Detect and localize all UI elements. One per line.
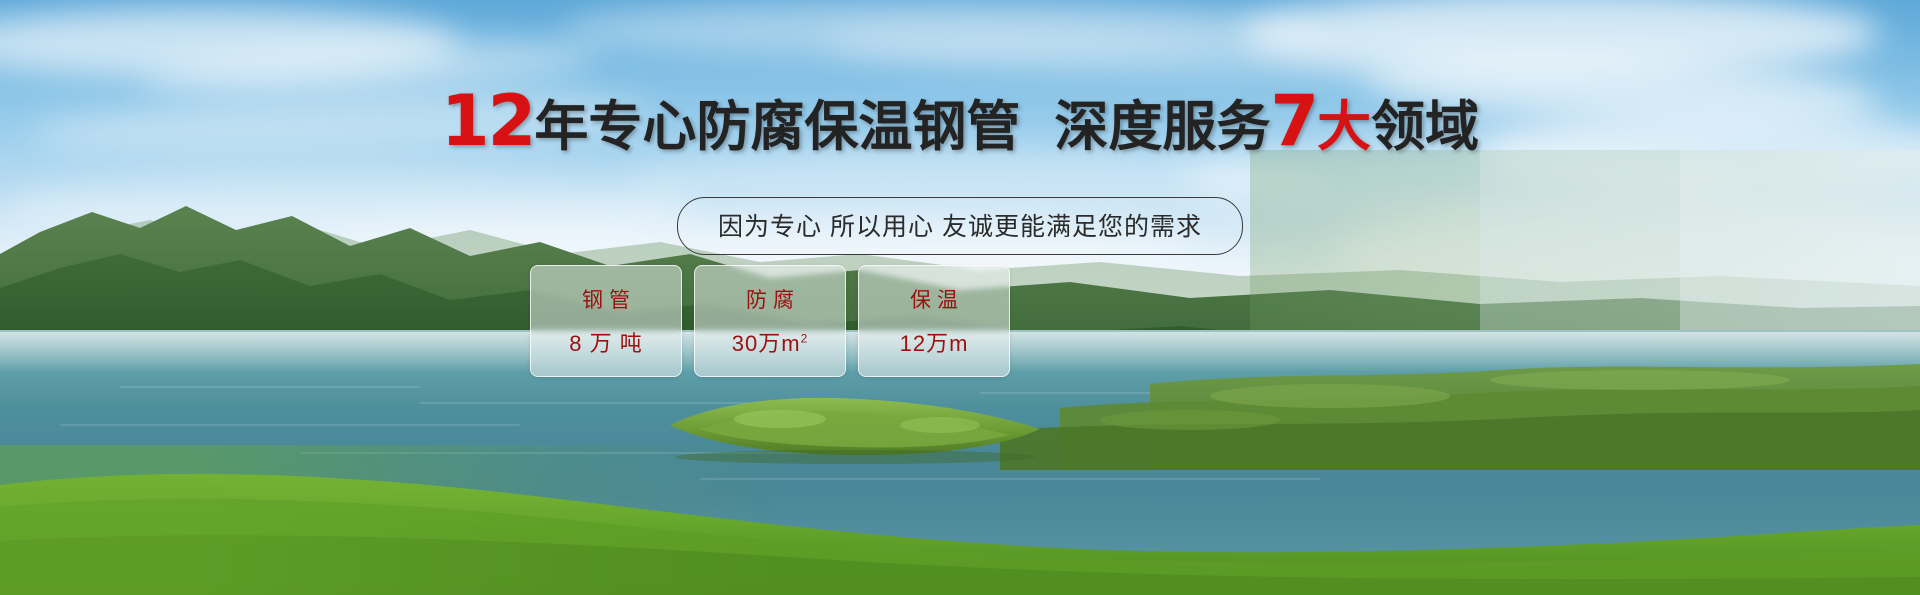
stat-card-insulation[interactable]: 保温 12万m xyxy=(858,265,1010,377)
headline-main-text: 年专心防腐保温钢管 xyxy=(534,97,1020,157)
stat-card-value: 8 万 吨 xyxy=(569,326,642,358)
stat-card-steel-pipe[interactable]: 钢管 8 万 吨 xyxy=(530,265,682,377)
stat-card-value: 12万m xyxy=(900,326,969,358)
foreground-grass xyxy=(0,445,1920,595)
headline-fields-text: 领域 xyxy=(1371,97,1479,157)
water-ripple xyxy=(120,386,420,388)
stat-card-value: 30万m2 xyxy=(732,326,809,358)
stat-card-group: 钢管 8 万 吨 防腐 30万m2 保温 12万m xyxy=(530,265,1050,377)
stat-card-title: 保温 xyxy=(904,284,964,314)
headline-years-number: 12 xyxy=(441,80,534,162)
headline: 12年专心防腐保温钢管深度服务7大领域 xyxy=(0,86,1920,156)
hero-banner: 12年专心防腐保温钢管深度服务7大领域 因为专心 所以用心 友诚更能满足您的需求… xyxy=(0,0,1920,595)
stat-card-value-superscript: 2 xyxy=(801,332,809,346)
stat-card-title: 钢管 xyxy=(576,284,636,314)
subtitle-container: 因为专心 所以用心 友诚更能满足您的需求 xyxy=(0,197,1920,255)
subtitle-pill: 因为专心 所以用心 友诚更能满足您的需求 xyxy=(677,197,1243,255)
headline-fields-unit: 大 xyxy=(1317,97,1371,157)
water-ripple xyxy=(60,424,520,426)
stat-card-value-text: 30万m xyxy=(732,331,801,356)
stat-card-title: 防腐 xyxy=(740,284,800,314)
stat-card-anticorrosion[interactable]: 防腐 30万m2 xyxy=(694,265,846,377)
headline-fields-number: 7 xyxy=(1270,80,1317,162)
headline-service-text: 深度服务 xyxy=(1054,97,1270,157)
